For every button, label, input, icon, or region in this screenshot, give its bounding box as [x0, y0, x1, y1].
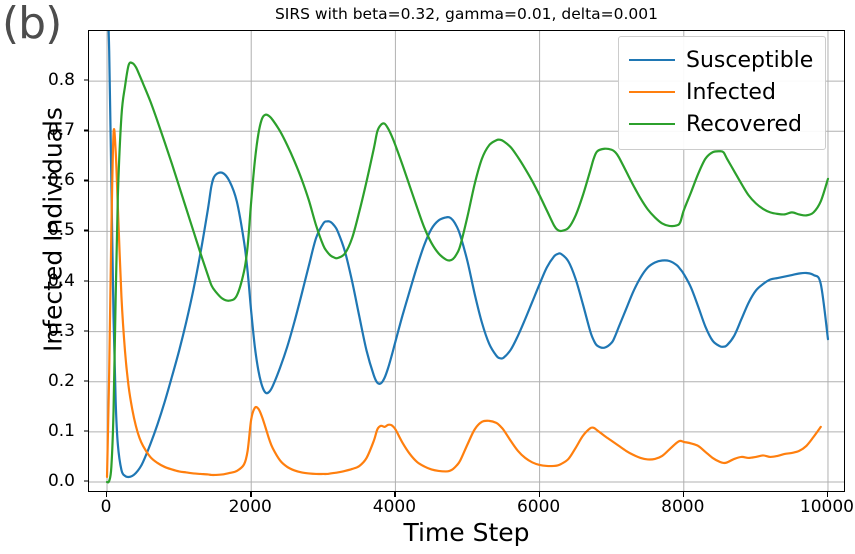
y-tick-label: 0.1: [15, 421, 75, 441]
x-tick-mark: [250, 492, 251, 497]
x-tick-mark: [394, 492, 395, 497]
legend-item-infected[interactable]: Infected: [629, 76, 813, 108]
legend-swatch-icon: [629, 91, 675, 94]
x-tick-label: 8000: [638, 497, 728, 517]
y-tick-label: 0.7: [15, 120, 75, 140]
y-tick-label: 0.2: [15, 371, 75, 391]
y-tick-label: 0.8: [15, 70, 75, 90]
y-tick-label: 0.6: [15, 170, 75, 190]
x-tick-mark: [106, 492, 107, 497]
x-tick-label: 2000: [205, 497, 295, 517]
x-tick-mark: [683, 492, 684, 497]
y-tick-label: 0.3: [15, 321, 75, 341]
legend-label: Recovered: [686, 112, 802, 137]
legend-item-recovered[interactable]: Recovered: [629, 108, 813, 140]
x-axis-label: Time Step: [88, 518, 845, 547]
x-tick-mark: [827, 492, 828, 497]
y-tick-label: 0.0: [15, 471, 75, 491]
y-tick-label: 0.5: [15, 220, 75, 240]
x-tick-label: 10000: [782, 497, 855, 517]
legend-swatch-icon: [629, 123, 675, 126]
legend-swatch-icon: [629, 59, 675, 62]
x-tick-label: 4000: [349, 497, 439, 517]
legend-label: Infected: [686, 80, 776, 105]
legend-label: Susceptible: [686, 48, 813, 73]
x-tick-label: 6000: [494, 497, 584, 517]
x-tick-mark: [539, 492, 540, 497]
x-tick-label: 0: [61, 497, 151, 517]
y-tick-label: 0.4: [15, 271, 75, 291]
figure: (b) SIRS with beta=0.32, gamma=0.01, del…: [0, 0, 855, 554]
chart-title: SIRS with beta=0.32, gamma=0.01, delta=0…: [88, 5, 845, 23]
chart-legend[interactable]: SusceptibleInfectedRecovered: [618, 36, 826, 150]
legend-item-susceptible[interactable]: Susceptible: [629, 44, 813, 76]
